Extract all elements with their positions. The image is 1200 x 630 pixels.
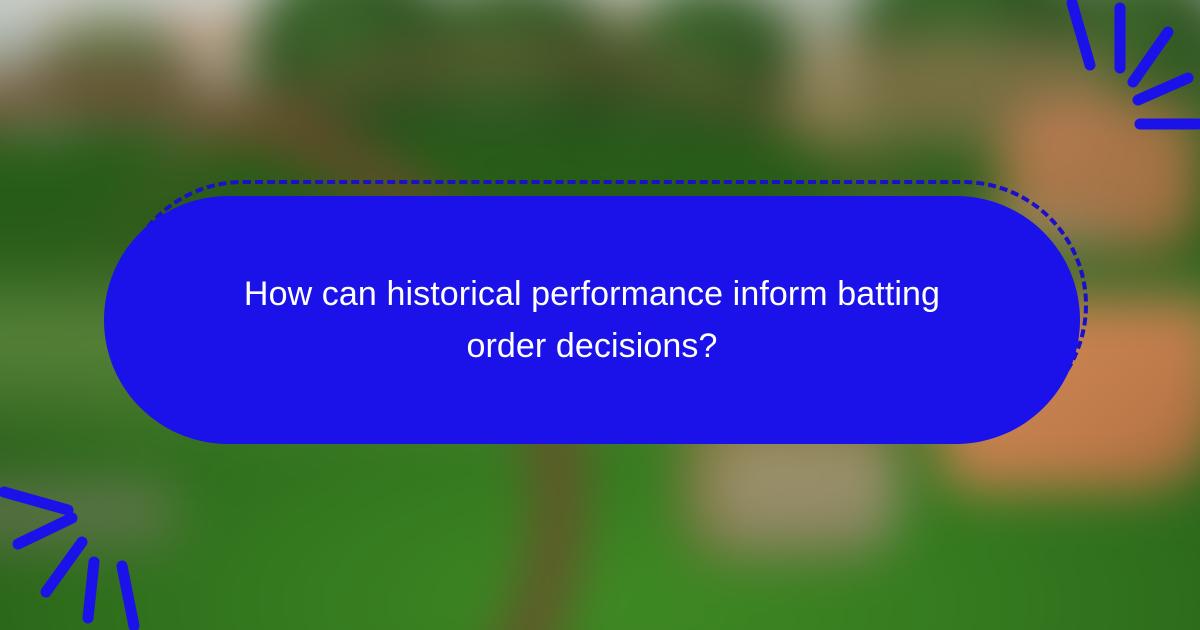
question-text: How can historical performance inform ba… [242, 268, 942, 372]
background-path [710, 440, 900, 550]
question-card: How can historical performance inform ba… [104, 196, 1080, 444]
background-path-lower [0, 480, 180, 550]
question-card-graphic: How can historical performance inform ba… [0, 0, 1200, 630]
